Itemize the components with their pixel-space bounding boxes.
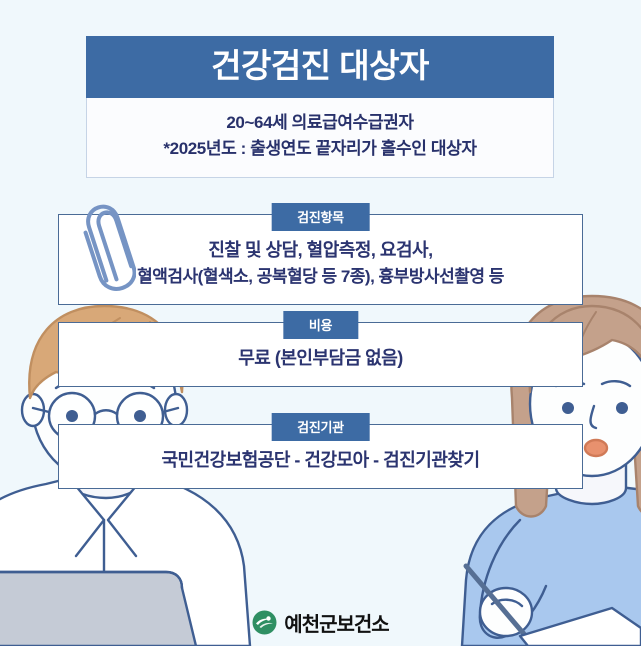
screening-org-line-1: 국민건강보험공단 - 건강모아 - 검진기관찾기 bbox=[67, 447, 574, 474]
health-center-logo-icon bbox=[252, 610, 277, 635]
header-card: 건강검진 대상자 20~64세 의료급여수급권자 *2025년도 : 출생연도 … bbox=[86, 36, 554, 178]
card-screening-org: 검진기관 국민건강보험공단 - 건강모아 - 검진기관찾기 bbox=[58, 424, 583, 489]
subtitle-line-2: *2025년도 : 출생연도 끝자리가 홀수인 대상자 bbox=[87, 136, 553, 162]
page-title: 건강검진 대상자 bbox=[86, 47, 554, 85]
badge-screening-items: 검진항목 bbox=[271, 203, 370, 231]
paperclip-icon bbox=[76, 201, 136, 293]
screening-items-line-1: 진찰 및 상담, 혈압측정, 요검사, bbox=[67, 237, 574, 264]
header-title-band: 건강검진 대상자 bbox=[86, 36, 554, 98]
cost-line-1: 무료 (본인부담금 없음) bbox=[67, 345, 574, 372]
header-subtitle-panel: 20~64세 의료급여수급권자 *2025년도 : 출생연도 끝자리가 홀수인 … bbox=[86, 98, 554, 178]
badge-cost: 비용 bbox=[283, 311, 358, 339]
badge-screening-org: 검진기관 bbox=[271, 413, 370, 441]
footer-branding: 예천군보건소 bbox=[0, 608, 641, 637]
card-cost: 비용 무료 (본인부담금 없음) bbox=[58, 322, 583, 387]
screening-items-line-2: 혈액검사(혈색소, 공복혈당 등 7종), 흉부방사선촬영 등 bbox=[67, 264, 574, 290]
subtitle-line-1: 20~64세 의료급여수급권자 bbox=[87, 110, 553, 136]
organization-name: 예천군보건소 bbox=[284, 608, 388, 637]
card-screening-items: 검진항목 진찰 및 상담, 혈압측정, 요검사, 혈액검사(혈색소, 공복혈당 … bbox=[58, 214, 583, 305]
